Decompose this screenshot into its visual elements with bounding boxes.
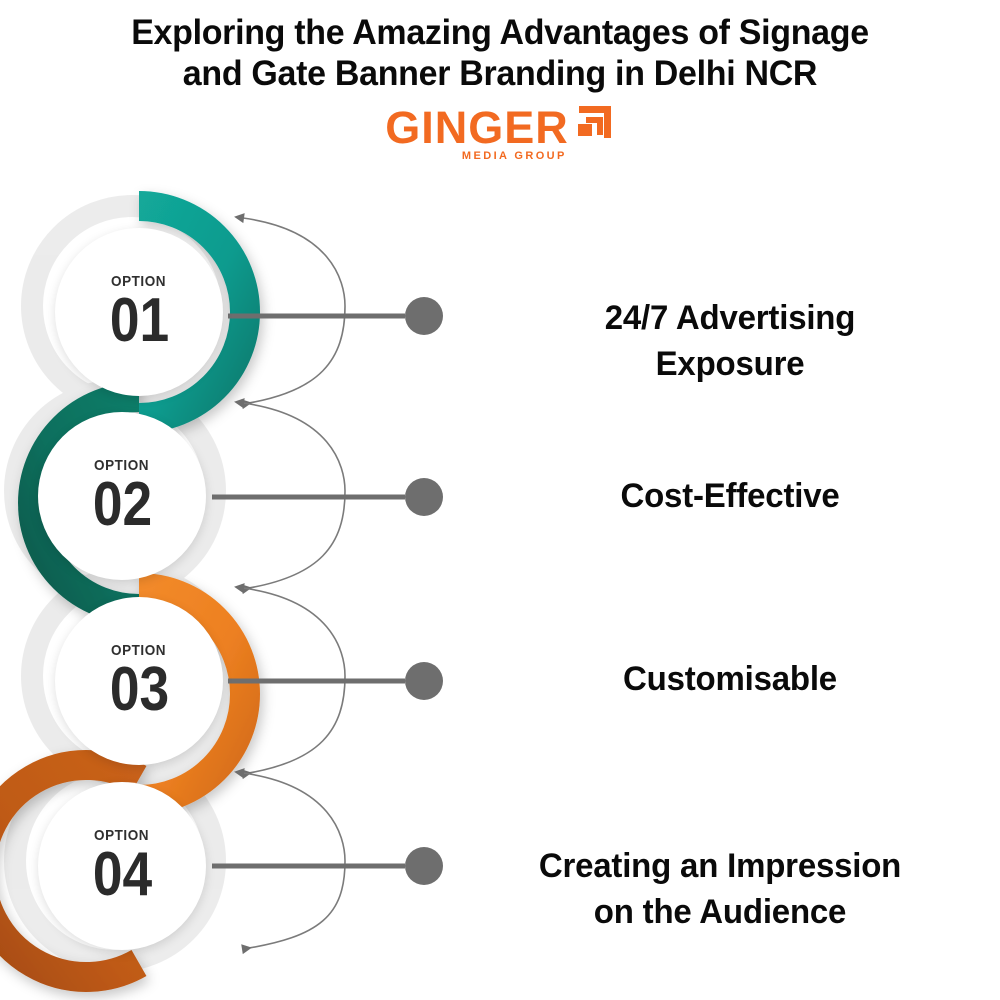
leader-dot-step-2: [405, 478, 443, 516]
step-label-1-line-1: 24/7 Advertising: [468, 295, 992, 341]
step-label-1-line-2: Exposure: [468, 341, 992, 387]
step-label-2-line-1: Cost-Effective: [468, 473, 992, 519]
step-number-2: 02: [92, 475, 151, 535]
step-node-3[interactable]: OPTION 03: [55, 597, 223, 765]
leader-dot-step-1: [405, 297, 443, 335]
step-label-4: Creating an Impression on the Audience: [448, 843, 991, 935]
curved-arrow-step-4: [243, 773, 345, 949]
step-label-2: Cost-Effective: [468, 473, 992, 519]
curved-arrow-step-1: [243, 218, 345, 404]
step-label-1: 24/7 Advertising Exposure: [468, 295, 992, 387]
step-number-4: 04: [92, 845, 151, 905]
step-node-2[interactable]: OPTION 02: [38, 412, 206, 580]
step-node-1[interactable]: OPTION 01: [55, 228, 223, 396]
steps-container: OPTION 01 OPTION 02 OPTION 03 OPTION 04 …: [0, 0, 1000, 1000]
leader-dot-step-3: [405, 662, 443, 700]
curved-arrow-step-2: [243, 403, 345, 589]
step-label-4-line-1: Creating an Impression: [448, 843, 991, 889]
infographic-page: Exploring the Amazing Advantages of Sign…: [0, 0, 1000, 1000]
step-label-4-line-2: on the Audience: [448, 889, 991, 935]
step-number-1: 01: [109, 291, 168, 351]
step-node-4[interactable]: OPTION 04: [38, 782, 206, 950]
step-label-3-line-1: Customisable: [468, 656, 992, 702]
curved-arrow-step-3: [243, 588, 345, 774]
step-label-3: Customisable: [468, 656, 992, 702]
step-number-3: 03: [109, 660, 168, 720]
leader-dot-step-4: [405, 847, 443, 885]
